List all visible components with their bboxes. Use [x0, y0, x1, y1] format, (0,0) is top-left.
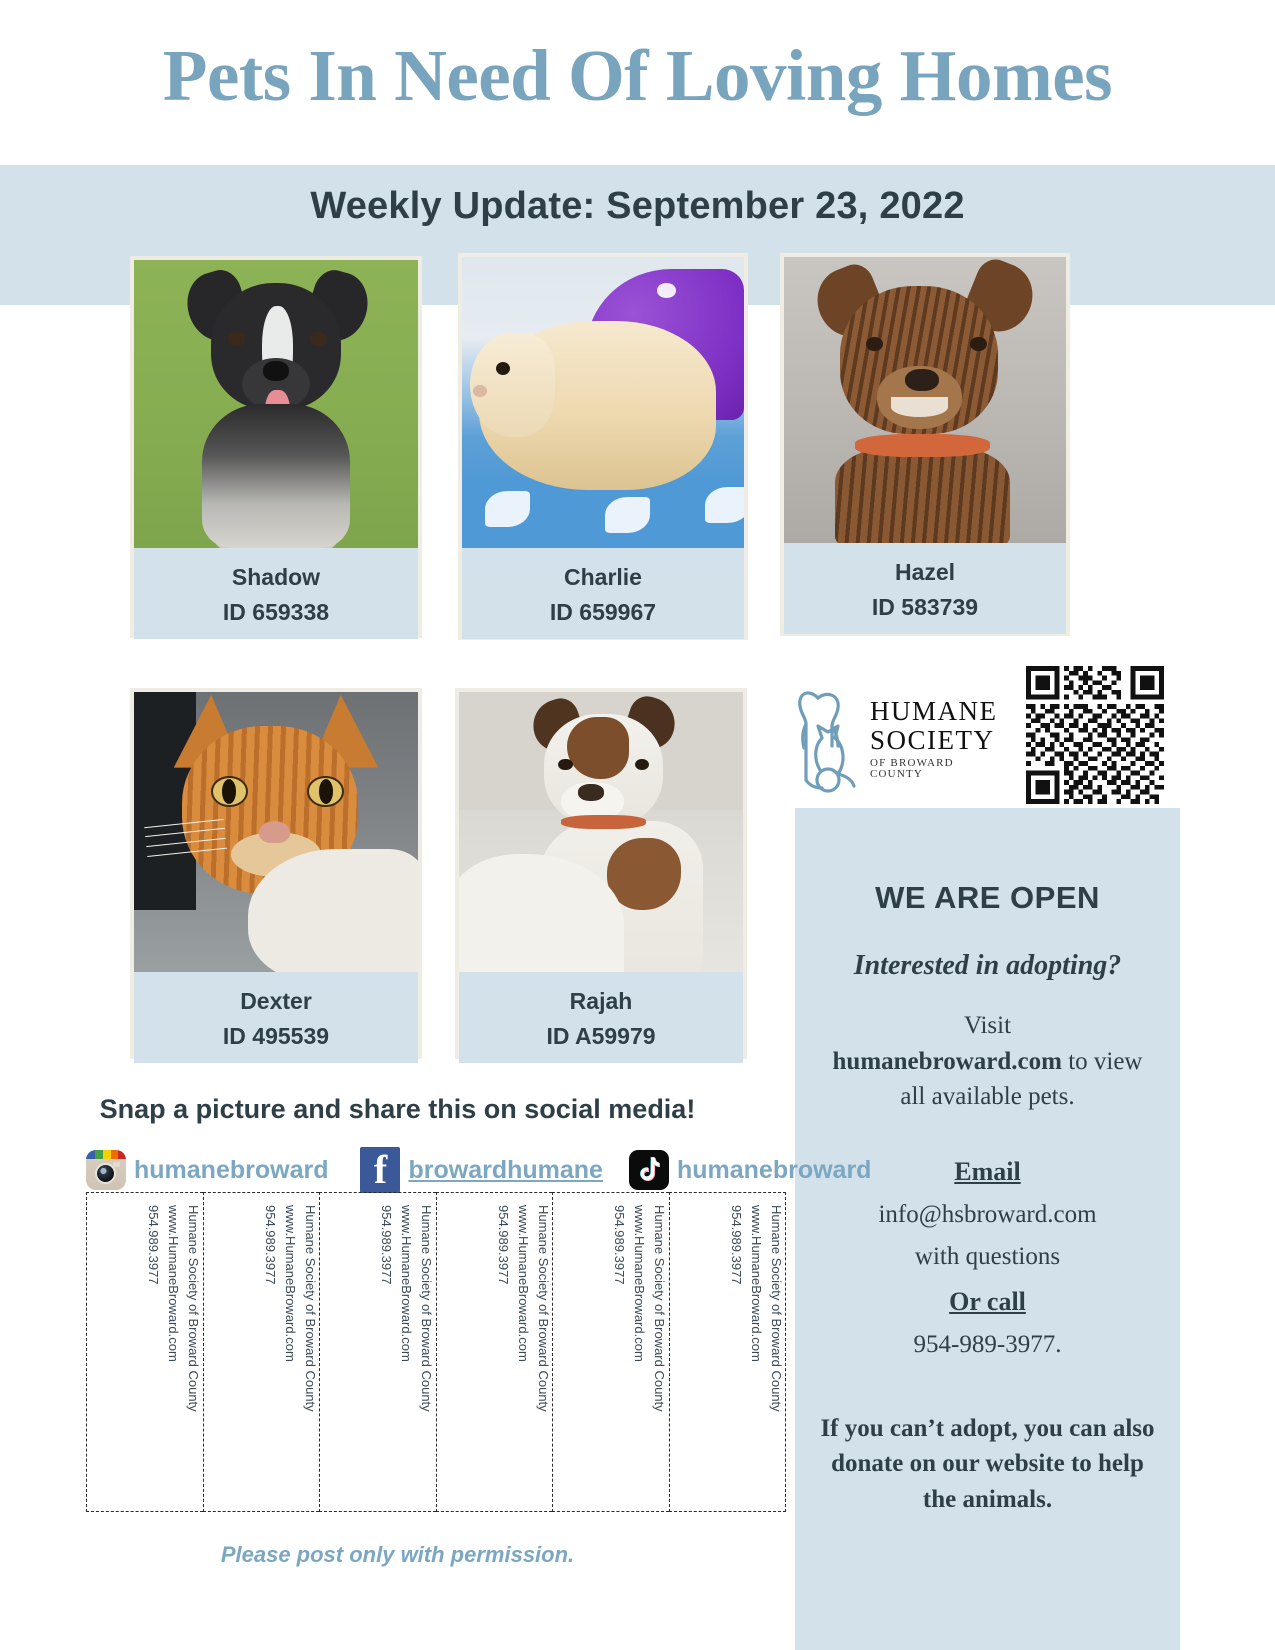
tab-contact-info: Humane Society of Broward County www.Hum… — [670, 1195, 786, 1515]
dog-and-cat-icon — [788, 676, 866, 796]
pet-caption: Dexter ID 495539 — [134, 972, 418, 1063]
tiktok-handle[interactable]: humanebroward — [677, 1156, 871, 1185]
logo-wordmark: HUMANE SOCIETY OF BROWARD COUNTY — [870, 698, 1010, 780]
tab-line-1: Humane Society of Broward County — [183, 1205, 203, 1515]
pet-name: Dexter — [134, 984, 418, 1019]
pet-card-dexter[interactable]: Dexter ID 495539 — [130, 688, 422, 1059]
tear-off-tab[interactable]: Humane Society of Broward County www.Hum… — [669, 1192, 787, 1512]
pet-caption: Charlie ID 659967 — [462, 548, 744, 639]
pet-photo-dexter — [134, 692, 418, 972]
pet-card-charlie[interactable]: Charlie ID 659967 — [458, 253, 748, 640]
page-title: Pets In Need Of Loving Homes — [0, 38, 1275, 115]
weekly-update-text: Weekly Update: September 23, 2022 — [0, 185, 1275, 228]
tear-off-tab[interactable]: Humane Society of Broward County www.Hum… — [203, 1192, 320, 1512]
tab-line-1: Humane Society of Broward County — [299, 1205, 319, 1515]
qr-code[interactable] — [1026, 666, 1164, 804]
pet-caption: Hazel ID 583739 — [784, 543, 1066, 634]
pet-id: ID A59979 — [459, 1019, 743, 1054]
pet-photo-rajah — [459, 692, 743, 972]
tab-line-1: Humane Society of Broward County — [649, 1205, 669, 1515]
tear-off-tab[interactable]: Humane Society of Broward County www.Hum… — [319, 1192, 436, 1512]
tab-line-1: Humane Society of Broward County — [532, 1205, 552, 1515]
tab-line-3: 954.989.3977 — [143, 1205, 163, 1515]
pet-id: ID 495539 — [134, 1019, 418, 1054]
permission-note: Please post only with permission. — [0, 1542, 795, 1568]
pet-name: Charlie — [462, 560, 744, 595]
facebook-icon: f — [360, 1147, 400, 1193]
tab-line-1: Humane Society of Broward County — [765, 1205, 785, 1515]
social-media-row: humanebroward f browardhumane humanebrow… — [86, 1146, 798, 1194]
tear-off-tab[interactable]: Humane Society of Broward County www.Hum… — [86, 1192, 203, 1512]
pet-photo-shadow — [134, 260, 418, 548]
facebook-handle[interactable]: browardhumane — [408, 1156, 602, 1185]
snap-picture-text: Snap a picture and share this on social … — [0, 1094, 795, 1125]
instagram-icon — [86, 1150, 126, 1190]
website-link[interactable]: humanebroward.com — [833, 1048, 1062, 1075]
tear-off-tab[interactable]: Humane Society of Broward County www.Hum… — [552, 1192, 669, 1512]
tab-contact-info: Humane Society of Broward County www.Hum… — [204, 1195, 320, 1515]
instagram-handle[interactable]: humanebroward — [134, 1156, 328, 1185]
pet-photo-hazel — [784, 257, 1066, 543]
tab-line-1: Humane Society of Broward County — [416, 1205, 436, 1515]
tab-line-3: 954.989.3977 — [492, 1205, 512, 1515]
logo-line-3: OF BROWARD COUNTY — [870, 758, 1010, 780]
tab-line-2: www.HumaneBroward.com — [279, 1205, 299, 1515]
we-are-open-heading: WE ARE OPEN — [817, 880, 1158, 916]
visit-prefix: Visit — [964, 1012, 1011, 1039]
pet-name: Rajah — [459, 984, 743, 1019]
pet-card-rajah[interactable]: Rajah ID A59979 — [455, 688, 747, 1059]
social-account-facebook[interactable]: f browardhumane — [360, 1147, 602, 1193]
tab-contact-info: Humane Society of Broward County www.Hum… — [87, 1195, 203, 1515]
phone-number[interactable]: 954-989-3977. — [817, 1331, 1158, 1359]
pet-id: ID 583739 — [784, 590, 1066, 625]
adoption-info-panel: WE ARE OPEN Interested in adopting? Visi… — [795, 808, 1180, 1650]
tab-line-2: www.HumaneBroward.com — [163, 1205, 183, 1515]
email-note: with questions — [817, 1243, 1158, 1271]
tear-off-tab[interactable]: Humane Society of Broward County www.Hum… — [436, 1192, 553, 1512]
pet-card-hazel[interactable]: Hazel ID 583739 — [780, 253, 1070, 636]
pet-name: Hazel — [784, 555, 1066, 590]
pet-photo-charlie — [462, 257, 744, 548]
or-call-heading: Or call — [817, 1287, 1158, 1317]
tiktok-icon — [629, 1150, 669, 1190]
logo-line-1: HUMANE — [870, 698, 1010, 725]
tab-line-3: 954.989.3977 — [259, 1205, 279, 1515]
interested-in-adopting-heading: Interested in adopting? — [817, 950, 1158, 982]
tab-line-3: 954.989.3977 — [725, 1205, 745, 1515]
pet-card-shadow[interactable]: Shadow ID 659338 — [130, 256, 422, 638]
tab-contact-info: Humane Society of Broward County www.Hum… — [553, 1195, 669, 1515]
tab-line-3: 954.989.3977 — [376, 1205, 396, 1515]
tab-contact-info: Humane Society of Broward County www.Hum… — [320, 1195, 436, 1515]
pet-id: ID 659338 — [134, 595, 418, 630]
email-address[interactable]: info@hsbroward.com — [817, 1201, 1158, 1229]
pet-caption: Rajah ID A59979 — [459, 972, 743, 1063]
tab-line-3: 954.989.3977 — [609, 1205, 629, 1515]
tab-line-2: www.HumaneBroward.com — [745, 1205, 765, 1515]
social-account-tiktok[interactable]: humanebroward — [629, 1150, 871, 1190]
logo-line-2: SOCIETY — [870, 727, 1010, 754]
organization-logo: HUMANE SOCIETY OF BROWARD COUNTY — [788, 672, 1010, 804]
pet-caption: Shadow ID 659338 — [134, 548, 418, 639]
donate-message: If you can’t adopt, you can also donate … — [817, 1411, 1158, 1518]
pet-name: Shadow — [134, 560, 418, 595]
tab-line-2: www.HumaneBroward.com — [512, 1205, 532, 1515]
social-account-instagram[interactable]: humanebroward — [86, 1150, 328, 1190]
pet-id: ID 659967 — [462, 595, 744, 630]
tab-contact-info: Humane Society of Broward County www.Hum… — [437, 1195, 553, 1515]
tab-line-2: www.HumaneBroward.com — [396, 1205, 416, 1515]
tab-line-2: www.HumaneBroward.com — [629, 1205, 649, 1515]
visit-website-text: Visit humanebroward.com to view all avai… — [817, 1008, 1158, 1115]
tear-off-tabs: Humane Society of Broward County www.Hum… — [86, 1192, 786, 1512]
